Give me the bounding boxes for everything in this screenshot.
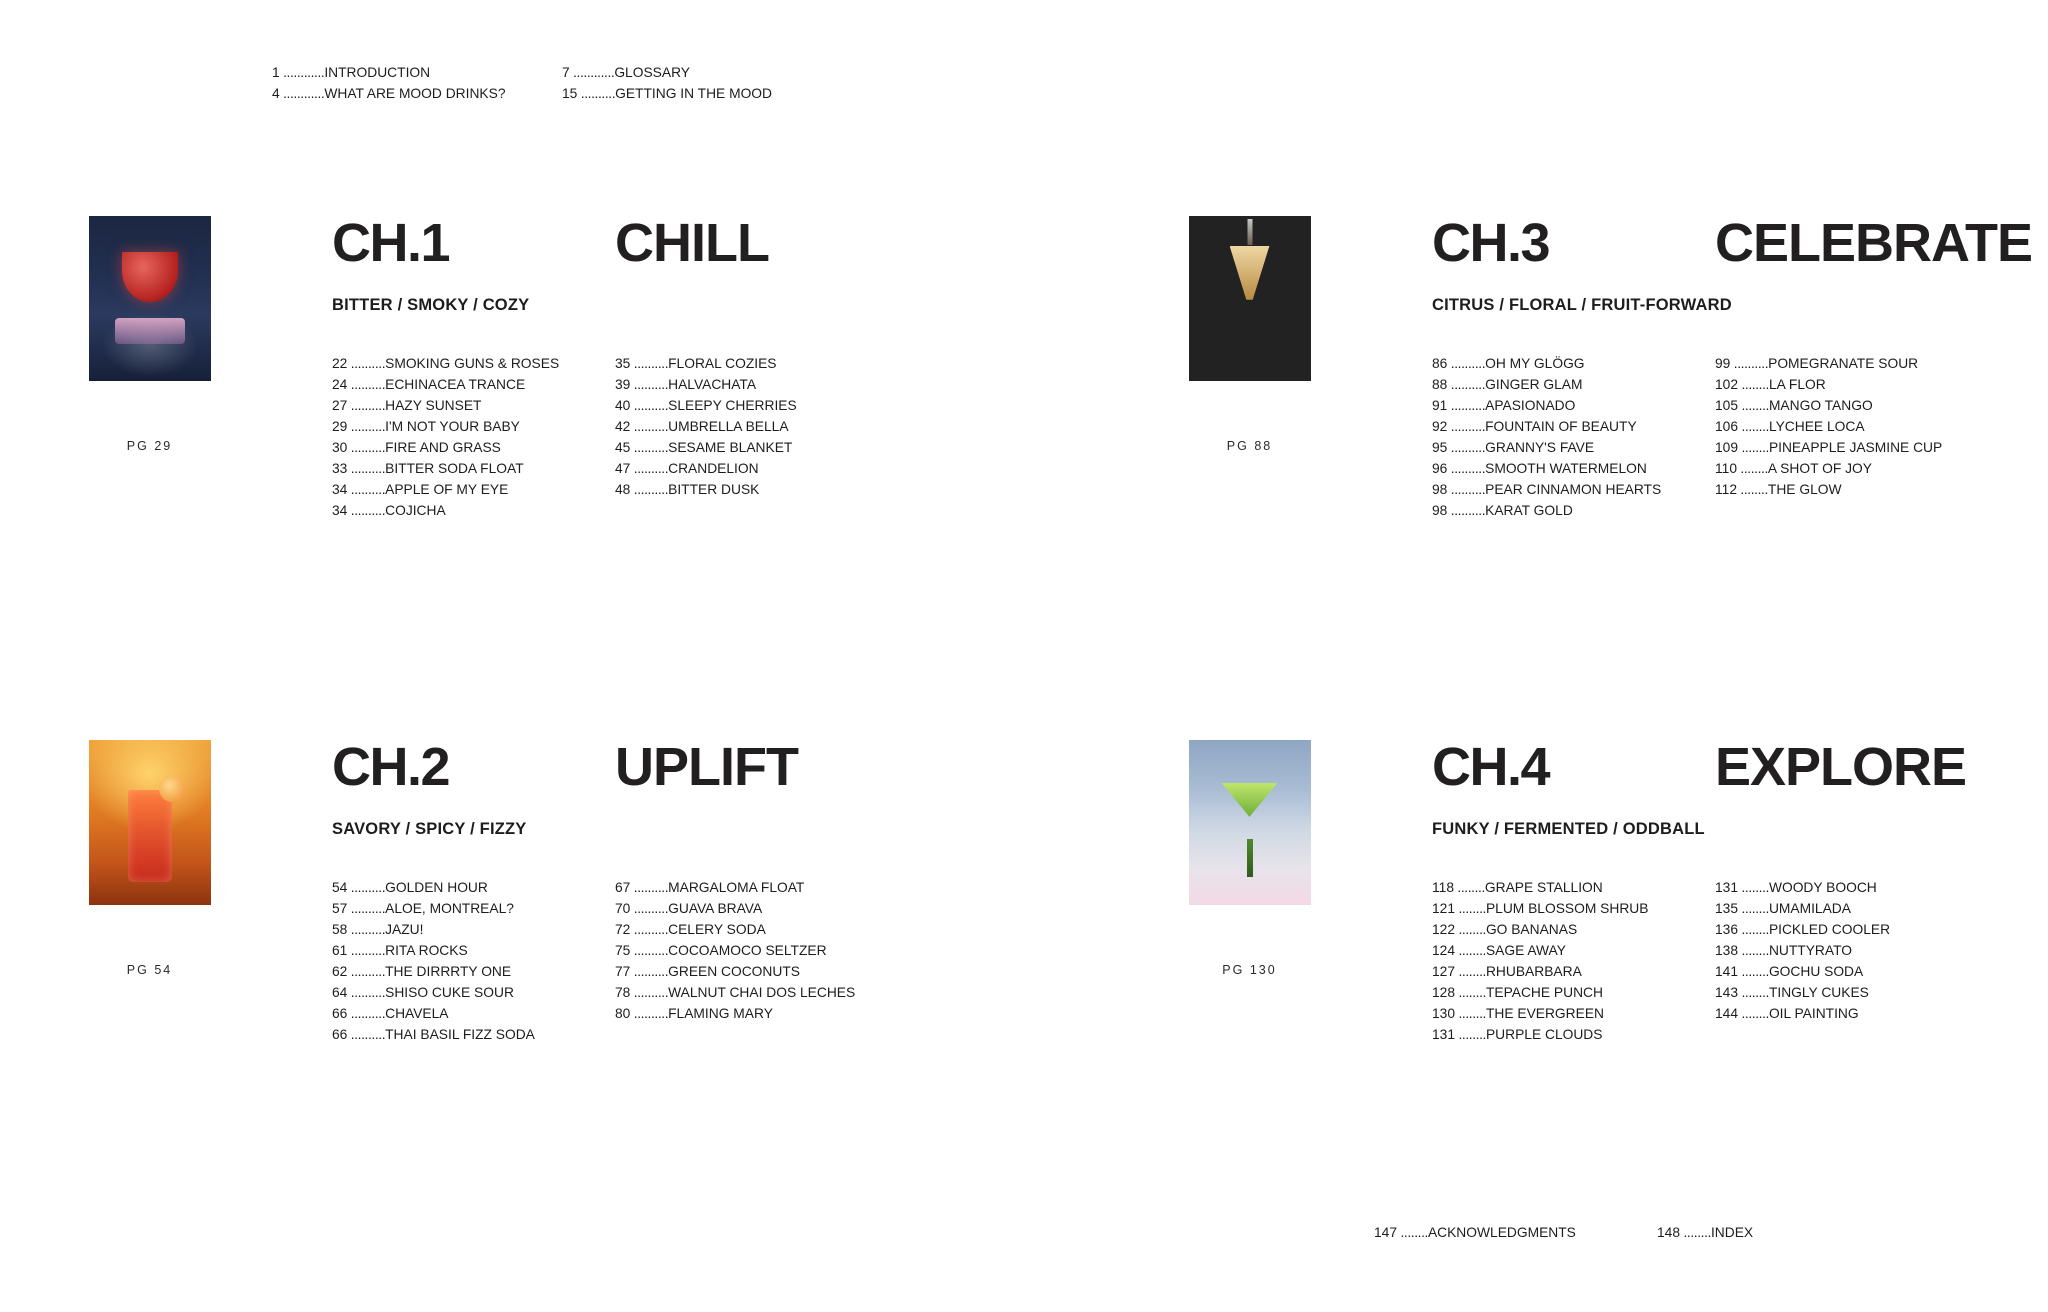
chapter-column-1: 86 ..........OH MY GLÖGG88 ..........GIN… <box>1432 353 1715 521</box>
entry-title: THAI BASIL FIZZ SODA <box>385 1027 535 1042</box>
entry-page-number: 35 <box>615 356 630 371</box>
entry-dot-leader: ........ <box>1738 901 1769 916</box>
chapter-thumb-caption: PG 54 <box>127 963 172 977</box>
entry-dot-leader: ........ <box>1737 482 1768 497</box>
chapter-thumb-caption: PG 29 <box>127 439 172 453</box>
entry-dot-leader: ........ <box>1737 461 1768 476</box>
entry-page-number: 61 <box>332 943 347 958</box>
entry-title: HALVACHATA <box>668 377 756 392</box>
entry-page-number: 86 <box>1432 356 1447 371</box>
footer-column-1: 147 ........ACKNOWLEDGMENTS <box>1374 1222 1657 1243</box>
green-martini-photo <box>1189 740 1311 905</box>
entry-dot-leader: .......... <box>1447 440 1485 455</box>
entry-dot-leader: ........ <box>1738 943 1769 958</box>
chapter-column-2: 35 ..........FLORAL COZIES39 ..........H… <box>615 353 898 521</box>
chapter-entry-columns: 118 ........GRAPE STALLION121 ........PL… <box>1432 877 1998 1045</box>
entry-dot-leader: .......... <box>1447 482 1485 497</box>
frontmatter-column-2: 7 ............GLOSSARY15 ..........GETTI… <box>562 62 852 104</box>
frontmatter-toc: 1 ............INTRODUCTION4 ............… <box>272 62 852 104</box>
entry-dot-leader: ........ <box>1738 880 1769 895</box>
recipe-entry[interactable]: 136 ........PICKLED COOLER <box>1715 919 1998 940</box>
recipe-entry[interactable]: 64 ..........SHISO CUKE SOUR <box>332 982 615 1003</box>
entry-title: THE DIRRRTY ONE <box>385 964 511 979</box>
chapter-thumb-wrap: PG 130 <box>1162 740 1337 977</box>
entry-dot-leader: .......... <box>630 461 668 476</box>
entry-title: COCOAMOCO SELTZER <box>668 943 826 958</box>
recipe-entry[interactable]: 130 ........THE EVERGREEN <box>1432 1003 1715 1024</box>
chapter-number: CH.1 <box>332 216 615 270</box>
entry-title: GINGER GLAM <box>1485 377 1582 392</box>
recipe-entry[interactable]: 122 ........GO BANANAS <box>1432 919 1715 940</box>
entry-page-number: 27 <box>332 398 347 413</box>
entry-title: UMBRELLA BELLA <box>668 419 788 434</box>
entry-dot-leader: .......... <box>347 922 385 937</box>
recipe-entry[interactable]: 54 ..........GOLDEN HOUR <box>332 877 615 898</box>
entry-page-number: 122 <box>1432 922 1455 937</box>
entry-page-number: 127 <box>1432 964 1455 979</box>
chapter-body: CH.2UPLIFTSAVORY / SPICY / FIZZY54 .....… <box>332 740 898 1045</box>
entry-page-number: 29 <box>332 419 347 434</box>
entry-title: FLAMING MARY <box>668 1006 773 1021</box>
entry-page-number: 47 <box>615 461 630 476</box>
entry-title: THE EVERGREEN <box>1486 1006 1604 1021</box>
entry-dot-leader: .......... <box>630 943 668 958</box>
entry-page-number: 62 <box>332 964 347 979</box>
entry-page-number: 33 <box>332 461 347 476</box>
entry-page-number: 72 <box>615 922 630 937</box>
chapter-subtitle: CITRUS / FLORAL / FRUIT-FORWARD <box>1432 296 2032 315</box>
entry-dot-leader: ........ <box>1738 398 1769 413</box>
chapter-thumb-caption: PG 130 <box>1222 963 1276 977</box>
entry-dot-leader: ........ <box>1397 1225 1428 1240</box>
entry-title: OIL PAINTING <box>1769 1006 1859 1021</box>
entry-title: APPLE OF MY EYE <box>385 482 508 497</box>
recipe-entry[interactable]: 77 ..........GREEN COCONUTS <box>615 961 898 982</box>
chapter-subtitle: BITTER / SMOKY / COZY <box>332 296 898 315</box>
chapter-block-ch1: PG 29CH.1CHILLBITTER / SMOKY / COZY22 ..… <box>62 216 898 521</box>
entry-title: TEPACHE PUNCH <box>1486 985 1603 1000</box>
entry-page-number: 34 <box>332 503 347 518</box>
recipe-entry[interactable]: 106 ........LYCHEE LOCA <box>1715 416 1998 437</box>
entry-dot-leader: .......... <box>347 503 385 518</box>
entry-dot-leader: .......... <box>347 1027 385 1042</box>
entry-title: SHISO CUKE SOUR <box>385 985 514 1000</box>
chapter-column-2: 99 ..........POMEGRANATE SOUR102 .......… <box>1715 353 1998 521</box>
entry-page-number: 64 <box>332 985 347 1000</box>
entry-page-number: 34 <box>332 482 347 497</box>
recipe-entry[interactable]: 127 ........RHUBARBARA <box>1432 961 1715 982</box>
entry-dot-leader: ........ <box>1738 1006 1769 1021</box>
entry-title: UMAMILADA <box>1769 901 1851 916</box>
recipe-entry[interactable]: 66 ..........THAI BASIL FIZZ SODA <box>332 1024 615 1045</box>
entry-dot-leader: .......... <box>1447 398 1485 413</box>
entry-title: GOCHU SODA <box>1769 964 1863 979</box>
entry-title: GRANNY'S FAVE <box>1485 440 1594 455</box>
entry-page-number: 4 <box>272 86 280 101</box>
recipe-entry[interactable]: 124 ........SAGE AWAY <box>1432 940 1715 961</box>
entry-page-number: 138 <box>1715 943 1738 958</box>
entry-dot-leader: ........ <box>1738 964 1769 979</box>
frontmatter-entry[interactable]: 4 ............WHAT ARE MOOD DRINKS? <box>272 83 562 104</box>
entry-dot-leader: ............ <box>570 65 615 80</box>
entry-title: BITTER SODA FLOAT <box>385 461 524 476</box>
frontmatter-entry[interactable]: 1 ............INTRODUCTION <box>272 62 562 83</box>
entry-dot-leader: .......... <box>1447 356 1485 371</box>
entry-page-number: 7 <box>562 65 570 80</box>
entry-dot-leader: .......... <box>630 880 668 895</box>
chapter-column-1: 22 ..........SMOKING GUNS & ROSES24 ....… <box>332 353 615 521</box>
recipe-entry[interactable]: 48 ..........BITTER DUSK <box>615 479 898 500</box>
entry-page-number: 130 <box>1432 1006 1455 1021</box>
recipe-entry[interactable]: 30 ..........FIRE AND GRASS <box>332 437 615 458</box>
entry-page-number: 57 <box>332 901 347 916</box>
entry-page-number: 48 <box>615 482 630 497</box>
entry-dot-leader: ........ <box>1738 922 1769 937</box>
entry-title: CELERY SODA <box>668 922 766 937</box>
recipe-entry[interactable]: 86 ..........OH MY GLÖGG <box>1432 353 1715 374</box>
entry-dot-leader: .......... <box>347 398 385 413</box>
entry-dot-leader: .......... <box>347 482 385 497</box>
footer-toc: 147 ........ACKNOWLEDGMENTS148 ........I… <box>1374 1222 1940 1243</box>
entry-page-number: 148 <box>1657 1225 1680 1240</box>
entry-page-number: 67 <box>615 880 630 895</box>
entry-dot-leader: ........ <box>1455 985 1486 1000</box>
entry-page-number: 102 <box>1715 377 1738 392</box>
entry-page-number: 95 <box>1432 440 1447 455</box>
chapter-mood-title: UPLIFT <box>615 740 798 794</box>
entry-dot-leader: .......... <box>630 356 668 371</box>
entry-page-number: 147 <box>1374 1225 1397 1240</box>
entry-title: FIRE AND GRASS <box>385 440 501 455</box>
entry-title: PEAR CINNAMON HEARTS <box>1485 482 1661 497</box>
entry-dot-leader: ........ <box>1455 1027 1486 1042</box>
entry-page-number: 91 <box>1432 398 1447 413</box>
entry-title: MARGALOMA FLOAT <box>668 880 804 895</box>
entry-dot-leader: ........ <box>1455 1006 1486 1021</box>
entry-title: GO BANANAS <box>1486 922 1577 937</box>
entry-page-number: 22 <box>332 356 347 371</box>
entry-page-number: 24 <box>332 377 347 392</box>
chapter-block-ch4: PG 130CH.4EXPLOREFUNKY / FERMENTED / ODD… <box>1162 740 1998 1045</box>
frontmatter-entry[interactable]: 15 ..........GETTING IN THE MOOD <box>562 83 852 104</box>
chapter-thumb-wrap: PG 88 <box>1162 216 1337 453</box>
entry-page-number: 99 <box>1715 356 1730 371</box>
entry-dot-leader: ........ <box>1738 985 1769 1000</box>
entry-page-number: 75 <box>615 943 630 958</box>
entry-page-number: 39 <box>615 377 630 392</box>
entry-title: GREEN COCONUTS <box>668 964 800 979</box>
entry-dot-leader: ........ <box>1738 377 1769 392</box>
entry-page-number: 77 <box>615 964 630 979</box>
entry-title: ECHINACEA TRANCE <box>385 377 525 392</box>
recipe-entry[interactable]: 96 ..........SMOOTH WATERMELON <box>1432 458 1715 479</box>
chapter-number: CH.4 <box>1432 740 1715 794</box>
entry-dot-leader: ........ <box>1455 964 1486 979</box>
recipe-entry[interactable]: 42 ..........UMBRELLA BELLA <box>615 416 898 437</box>
entry-title: GRAPE STALLION <box>1485 880 1603 895</box>
recipe-entry[interactable]: 135 ........UMAMILADA <box>1715 898 1998 919</box>
recipe-entry[interactable]: 128 ........TEPACHE PUNCH <box>1432 982 1715 1003</box>
recipe-entry[interactable]: 91 ..........APASIONADO <box>1432 395 1715 416</box>
recipe-entry[interactable]: 98 ..........KARAT GOLD <box>1432 500 1715 521</box>
footer-column-2: 148 ........INDEX <box>1657 1222 1940 1243</box>
entry-page-number: 42 <box>615 419 630 434</box>
entry-dot-leader: ............ <box>280 65 325 80</box>
recipe-entry[interactable]: 143 ........TINGLY CUKES <box>1715 982 1998 1003</box>
recipe-entry[interactable]: 22 ..........SMOKING GUNS & ROSES <box>332 353 615 374</box>
chapter-column-2: 131 ........WOODY BOOCH135 ........UMAMI… <box>1715 877 1998 1045</box>
entry-page-number: 131 <box>1715 880 1738 895</box>
entry-page-number: 105 <box>1715 398 1738 413</box>
entry-title: PINEAPPLE JASMINE CUP <box>1769 440 1942 455</box>
recipe-entry[interactable]: 112 ........THE GLOW <box>1715 479 1998 500</box>
recipe-entry[interactable]: 61 ..........RITA ROCKS <box>332 940 615 961</box>
chapter-heading: CH.4EXPLORE <box>1432 740 1998 794</box>
recipe-entry[interactable]: 131 ........PURPLE CLOUDS <box>1432 1024 1715 1045</box>
entry-title: HAZY SUNSET <box>385 398 481 413</box>
entry-title: TINGLY CUKES <box>1769 985 1869 1000</box>
entry-dot-leader: ........ <box>1738 440 1769 455</box>
entry-title: GUAVA BRAVA <box>668 901 762 916</box>
chapter-column-1: 118 ........GRAPE STALLION121 ........PL… <box>1432 877 1715 1045</box>
entry-title: POMEGRANATE SOUR <box>1768 356 1918 371</box>
entry-dot-leader: .......... <box>347 880 385 895</box>
recipe-entry[interactable]: 75 ..........COCOAMOCO SELTZER <box>615 940 898 961</box>
recipe-entry[interactable]: 95 ..........GRANNY'S FAVE <box>1432 437 1715 458</box>
entry-title: WOODY BOOCH <box>1769 880 1877 895</box>
entry-dot-leader: .......... <box>630 922 668 937</box>
entry-title: FOUNTAIN OF BEAUTY <box>1485 419 1637 434</box>
entry-dot-leader: ........ <box>1680 1225 1711 1240</box>
entry-title: COJICHA <box>385 503 446 518</box>
frontmatter-column-1: 1 ............INTRODUCTION4 ............… <box>272 62 562 104</box>
recipe-entry[interactable]: 121 ........PLUM BLOSSOM SHRUB <box>1432 898 1715 919</box>
chapter-thumb-wrap: PG 29 <box>62 216 237 453</box>
entry-title: LA FLOR <box>1769 377 1826 392</box>
entry-dot-leader: .......... <box>347 356 385 371</box>
entry-dot-leader: .......... <box>347 901 385 916</box>
entry-title: LYCHEE LOCA <box>1769 419 1865 434</box>
entry-page-number: 112 <box>1715 482 1737 497</box>
entry-title: THE GLOW <box>1768 482 1842 497</box>
entry-page-number: 131 <box>1432 1027 1455 1042</box>
entry-title: SMOOTH WATERMELON <box>1485 461 1647 476</box>
entry-title: APASIONADO <box>1485 398 1575 413</box>
recipe-entry[interactable]: 67 ..........MARGALOMA FLOAT <box>615 877 898 898</box>
recipe-entry[interactable]: 62 ..........THE DIRRRTY ONE <box>332 961 615 982</box>
entry-page-number: 106 <box>1715 419 1738 434</box>
entry-page-number: 96 <box>1432 461 1447 476</box>
recipe-entry[interactable]: 141 ........GOCHU SODA <box>1715 961 1998 982</box>
entry-title: GETTING IN THE MOOD <box>615 86 772 101</box>
entry-page-number: 78 <box>615 985 630 1000</box>
entry-dot-leader: .......... <box>630 964 668 979</box>
recipe-entry[interactable]: 102 ........LA FLOR <box>1715 374 1998 395</box>
chapter-number: CH.2 <box>332 740 615 794</box>
red-cocktail-photo <box>89 216 211 381</box>
entry-page-number: 118 <box>1432 880 1454 895</box>
recipe-entry[interactable]: 99 ..........POMEGRANATE SOUR <box>1715 353 1998 374</box>
chapter-heading: CH.1CHILL <box>332 216 898 270</box>
chapter-body: CH.4EXPLOREFUNKY / FERMENTED / ODDBALL11… <box>1432 740 1998 1045</box>
entry-dot-leader: .......... <box>1447 503 1485 518</box>
chapter-entry-columns: 86 ..........OH MY GLÖGG88 ..........GIN… <box>1432 353 2032 521</box>
orange-highball-photo <box>89 740 211 905</box>
entry-dot-leader: ............ <box>280 86 325 101</box>
recipe-entry[interactable]: 40 ..........SLEEPY CHERRIES <box>615 395 898 416</box>
recipe-entry[interactable]: 80 ..........FLAMING MARY <box>615 1003 898 1024</box>
entry-page-number: 98 <box>1432 503 1447 518</box>
entry-dot-leader: .......... <box>630 1006 668 1021</box>
recipe-entry[interactable]: 88 ..........GINGER GLAM <box>1432 374 1715 395</box>
entry-page-number: 70 <box>615 901 630 916</box>
recipe-entry[interactable]: 110 ........A SHOT OF JOY <box>1715 458 1998 479</box>
entry-title: CHAVELA <box>385 1006 448 1021</box>
entry-page-number: 30 <box>332 440 347 455</box>
entry-title: SMOKING GUNS & ROSES <box>385 356 559 371</box>
recipe-entry[interactable]: 109 ........PINEAPPLE JASMINE CUP <box>1715 437 1998 458</box>
entry-page-number: 88 <box>1432 377 1447 392</box>
chapter-number: CH.3 <box>1432 216 1715 270</box>
entry-title: MANGO TANGO <box>1769 398 1873 413</box>
recipe-entry[interactable]: 29 ..........I'M NOT YOUR BABY <box>332 416 615 437</box>
recipe-entry[interactable]: 72 ..........CELERY SODA <box>615 919 898 940</box>
recipe-entry[interactable]: 66 ..........CHAVELA <box>332 1003 615 1024</box>
chapter-subtitle: FUNKY / FERMENTED / ODDBALL <box>1432 820 1998 839</box>
entry-page-number: 98 <box>1432 482 1447 497</box>
entry-page-number: 40 <box>615 398 630 413</box>
recipe-entry[interactable]: 57 ..........ALOE, MONTREAL? <box>332 898 615 919</box>
recipe-entry[interactable]: 34 ..........APPLE OF MY EYE <box>332 479 615 500</box>
recipe-entry[interactable]: 34 ..........COJICHA <box>332 500 615 521</box>
entry-page-number: 124 <box>1432 943 1455 958</box>
entry-dot-leader: ........ <box>1738 419 1769 434</box>
chapter-mood-title: CHILL <box>615 216 769 270</box>
entry-title: KARAT GOLD <box>1485 503 1573 518</box>
recipe-entry[interactable]: 118 ........GRAPE STALLION <box>1432 877 1715 898</box>
entry-dot-leader: .......... <box>347 1006 385 1021</box>
entry-page-number: 45 <box>615 440 630 455</box>
entry-dot-leader: .......... <box>1447 419 1485 434</box>
entry-dot-leader: .......... <box>347 377 385 392</box>
entry-page-number: 144 <box>1715 1006 1738 1021</box>
chapter-column-2: 67 ..........MARGALOMA FLOAT70 .........… <box>615 877 898 1045</box>
recipe-entry[interactable]: 33 ..........BITTER SODA FLOAT <box>332 458 615 479</box>
recipe-entry[interactable]: 144 ........OIL PAINTING <box>1715 1003 1998 1024</box>
entry-page-number: 121 <box>1432 901 1455 916</box>
entry-page-number: 143 <box>1715 985 1738 1000</box>
entry-page-number: 135 <box>1715 901 1738 916</box>
entry-dot-leader: .......... <box>630 482 668 497</box>
entry-title: I'M NOT YOUR BABY <box>385 419 520 434</box>
recipe-entry[interactable]: 131 ........WOODY BOOCH <box>1715 877 1998 898</box>
entry-title: WALNUT CHAI DOS LECHES <box>668 985 855 1000</box>
recipe-entry[interactable]: 47 ..........CRANDELION <box>615 458 898 479</box>
entry-page-number: 128 <box>1432 985 1455 1000</box>
toc-page: 1 ............INTRODUCTION4 ............… <box>0 0 2048 1312</box>
entry-page-number: 80 <box>615 1006 630 1021</box>
footer-entry[interactable]: 148 ........INDEX <box>1657 1222 1940 1243</box>
recipe-entry[interactable]: 24 ..........ECHINACEA TRANCE <box>332 374 615 395</box>
recipe-entry[interactable]: 35 ..........FLORAL COZIES <box>615 353 898 374</box>
entry-dot-leader: .......... <box>347 461 385 476</box>
entry-title: RHUBARBARA <box>1486 964 1582 979</box>
entry-dot-leader: .......... <box>630 377 668 392</box>
entry-title: RITA ROCKS <box>385 943 468 958</box>
entry-title: A SHOT OF JOY <box>1768 461 1872 476</box>
entry-title: PICKLED COOLER <box>1769 922 1890 937</box>
entry-title: INDEX <box>1711 1225 1753 1240</box>
chapter-mood-title: EXPLORE <box>1715 740 1966 794</box>
entry-title: BITTER DUSK <box>668 482 759 497</box>
recipe-entry[interactable]: 39 ..........HALVACHATA <box>615 374 898 395</box>
entry-title: SLEEPY CHERRIES <box>668 398 797 413</box>
frontmatter-entry[interactable]: 7 ............GLOSSARY <box>562 62 852 83</box>
entry-page-number: 110 <box>1715 461 1737 476</box>
recipe-entry[interactable]: 78 ..........WALNUT CHAI DOS LECHES <box>615 982 898 1003</box>
entry-dot-leader: ........ <box>1454 880 1485 895</box>
recipe-entry[interactable]: 138 ........NUTTYRATO <box>1715 940 1998 961</box>
entry-title: GOLDEN HOUR <box>385 880 488 895</box>
chapter-subtitle: SAVORY / SPICY / FIZZY <box>332 820 898 839</box>
entry-title: ALOE, MONTREAL? <box>385 901 514 916</box>
entry-dot-leader: .......... <box>630 985 668 1000</box>
entry-title: JAZU! <box>385 922 423 937</box>
chapter-block-ch3: PG 88CH.3CELEBRATECITRUS / FLORAL / FRUI… <box>1162 216 2032 521</box>
entry-page-number: 109 <box>1715 440 1738 455</box>
chapter-thumb-wrap: PG 54 <box>62 740 237 977</box>
entry-dot-leader: .......... <box>347 943 385 958</box>
entry-title: INTRODUCTION <box>324 65 430 80</box>
entry-title: SAGE AWAY <box>1486 943 1566 958</box>
entry-page-number: 141 <box>1715 964 1738 979</box>
entry-title: CRANDELION <box>668 461 758 476</box>
chapter-heading: CH.2UPLIFT <box>332 740 898 794</box>
recipe-entry[interactable]: 92 ..........FOUNTAIN OF BEAUTY <box>1432 416 1715 437</box>
chapter-mood-title: CELEBRATE <box>1715 216 2032 270</box>
entry-dot-leader: .......... <box>347 419 385 434</box>
entry-title: GLOSSARY <box>614 65 690 80</box>
recipe-entry[interactable]: 45 ..........SESAME BLANKET <box>615 437 898 458</box>
entry-title: WHAT ARE MOOD DRINKS? <box>324 86 505 101</box>
entry-title: NUTTYRATO <box>1769 943 1852 958</box>
entry-title: OH MY GLÖGG <box>1485 356 1584 371</box>
entry-title: PURPLE CLOUDS <box>1486 1027 1603 1042</box>
entry-dot-leader: .......... <box>347 440 385 455</box>
recipe-entry[interactable]: 70 ..........GUAVA BRAVA <box>615 898 898 919</box>
chapter-body: CH.1CHILLBITTER / SMOKY / COZY22 .......… <box>332 216 898 521</box>
footer-entry[interactable]: 147 ........ACKNOWLEDGMENTS <box>1374 1222 1657 1243</box>
chapter-thumb-caption: PG 88 <box>1227 439 1272 453</box>
chapter-body: CH.3CELEBRATECITRUS / FLORAL / FRUIT-FOR… <box>1432 216 2032 521</box>
recipe-entry[interactable]: 27 ..........HAZY SUNSET <box>332 395 615 416</box>
chapter-entry-columns: 22 ..........SMOKING GUNS & ROSES24 ....… <box>332 353 898 521</box>
recipe-entry[interactable]: 105 ........MANGO TANGO <box>1715 395 1998 416</box>
entry-page-number: 66 <box>332 1006 347 1021</box>
entry-page-number: 1 <box>272 65 280 80</box>
entry-dot-leader: .......... <box>1447 461 1485 476</box>
entry-title: FLORAL COZIES <box>668 356 776 371</box>
entry-page-number: 136 <box>1715 922 1738 937</box>
entry-dot-leader: ........ <box>1455 901 1486 916</box>
entry-title: PLUM BLOSSOM SHRUB <box>1486 901 1649 916</box>
entry-dot-leader: .......... <box>347 985 385 1000</box>
recipe-entry[interactable]: 98 ..........PEAR CINNAMON HEARTS <box>1432 479 1715 500</box>
entry-page-number: 92 <box>1432 419 1447 434</box>
entry-page-number: 15 <box>562 86 577 101</box>
recipe-entry[interactable]: 58 ..........JAZU! <box>332 919 615 940</box>
entry-dot-leader: .......... <box>630 440 668 455</box>
